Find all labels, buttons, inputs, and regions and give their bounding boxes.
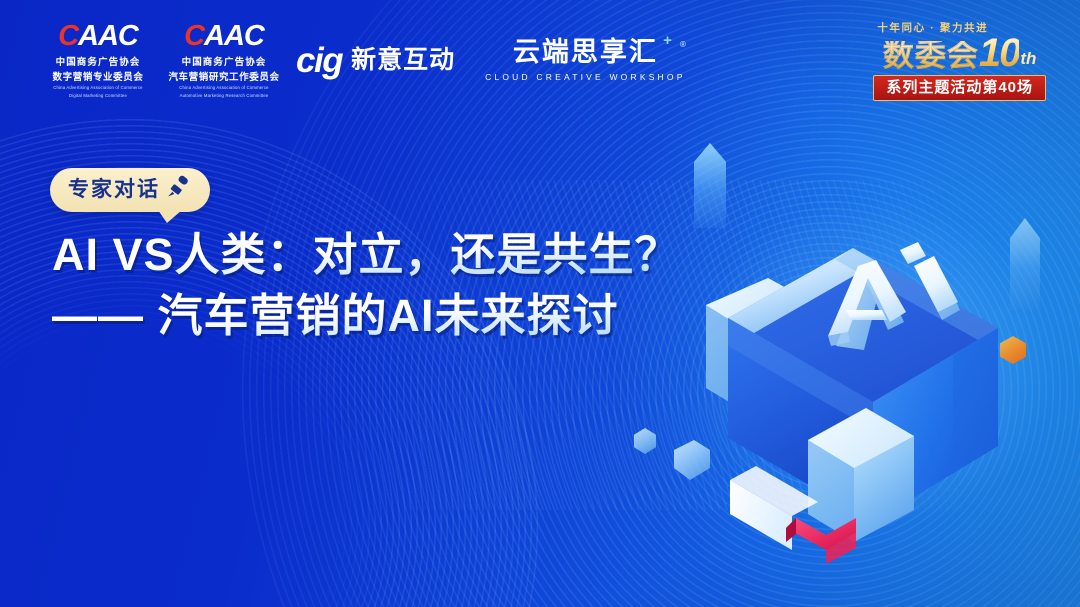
caac-wordmark: CAAC xyxy=(58,22,138,51)
anniversary-badge: 十年同心 · 聚力共进 数委会 10 th 系列主题活动第40场 xyxy=(873,20,1046,101)
partner-logo-bar: CAAC 中国商务广告协会 数字营销专业委员会 China Advertisin… xyxy=(46,22,686,100)
logo-caac-automotive-research: CAAC 中国商务广告协会 汽车营销研究工作委员会 China Advertis… xyxy=(172,22,276,100)
page-title: AI VS人类：对立，还是共生？ —— 汽车营销的AI未来探讨 xyxy=(52,225,681,346)
badge-main-row: 数委会 10 th xyxy=(883,36,1037,70)
caac-en-line1: China Advertising Association of Commerc… xyxy=(179,85,268,91)
cig-wordmark: cig xyxy=(296,43,342,78)
event-poster: CAAC 中国商务广告协会 数字营销专业委员会 China Advertisin… xyxy=(0,0,1080,607)
caac-cn-line2: 汽车营销研究工作委员会 xyxy=(168,69,279,83)
caac-wordmark: CAAC xyxy=(184,22,264,51)
caac-en-line1: China Advertising Association of Commerc… xyxy=(53,85,142,91)
badge-ordinal-suffix: th xyxy=(1020,50,1036,67)
badge-session-label: 系列主题活动第40场 xyxy=(886,80,1033,95)
caac-wordmark-c: C xyxy=(184,20,204,52)
title-line-1: AI VS人类：对立，还是共生？ xyxy=(52,225,681,284)
caac-en-line2: Automotive Marketing Research Committee xyxy=(180,93,269,99)
caac-cn-line1: 中国商务广告协会 xyxy=(56,54,141,68)
floating-hex-chip xyxy=(634,428,656,454)
cloud-workshop-cn: 云端思享汇 + ® xyxy=(513,39,658,66)
caac-wordmark-rest: AAC xyxy=(204,20,264,52)
cloud-workshop-cn-text: 云端思享汇 xyxy=(513,37,658,67)
tag-bubble-tail xyxy=(158,210,182,223)
badge-ribbon: 系列主题活动第40场 xyxy=(873,75,1046,101)
microphone-icon xyxy=(166,175,192,204)
badge-slogan: 十年同心 · 聚力共进 xyxy=(873,20,988,35)
logo-cloud-creative-workshop: 云端思享汇 + ® CLOUD CREATIVE WORKSHOP xyxy=(485,39,686,82)
session-type-tag: 专家对话 xyxy=(50,168,210,212)
tag-bubble: 专家对话 xyxy=(50,168,210,212)
cube-pink-accent xyxy=(786,518,856,564)
plus-icon: + xyxy=(663,33,674,48)
cloud-workshop-en: CLOUD CREATIVE WORKSHOP xyxy=(485,72,686,82)
logo-cig: cig 新意互动 xyxy=(296,43,455,78)
caac-cn-line2: 数字营销专业委员会 xyxy=(53,69,144,83)
tag-label: 专家对话 xyxy=(68,179,160,200)
caac-wordmark-c: C xyxy=(58,20,78,52)
caac-en-line2: Digital Marketing Committee xyxy=(69,93,127,99)
cube-floating-chip xyxy=(674,440,710,480)
title-line-2: —— 汽车营销的AI未来探讨 xyxy=(52,286,681,345)
caac-cn-line1: 中国商务广告协会 xyxy=(182,54,267,68)
registered-trademark-icon: ® xyxy=(680,41,688,49)
cig-chinese-name: 新意互动 xyxy=(351,48,455,73)
ai-cube-artwork xyxy=(668,150,1068,570)
badge-organization-name: 数委会 xyxy=(883,41,979,70)
caac-wordmark-rest: AAC xyxy=(78,20,138,52)
badge-anniversary-number: 10 xyxy=(979,36,1020,70)
logo-caac-digital-marketing: CAAC 中国商务广告协会 数字营销专业委员会 China Advertisin… xyxy=(46,22,150,100)
